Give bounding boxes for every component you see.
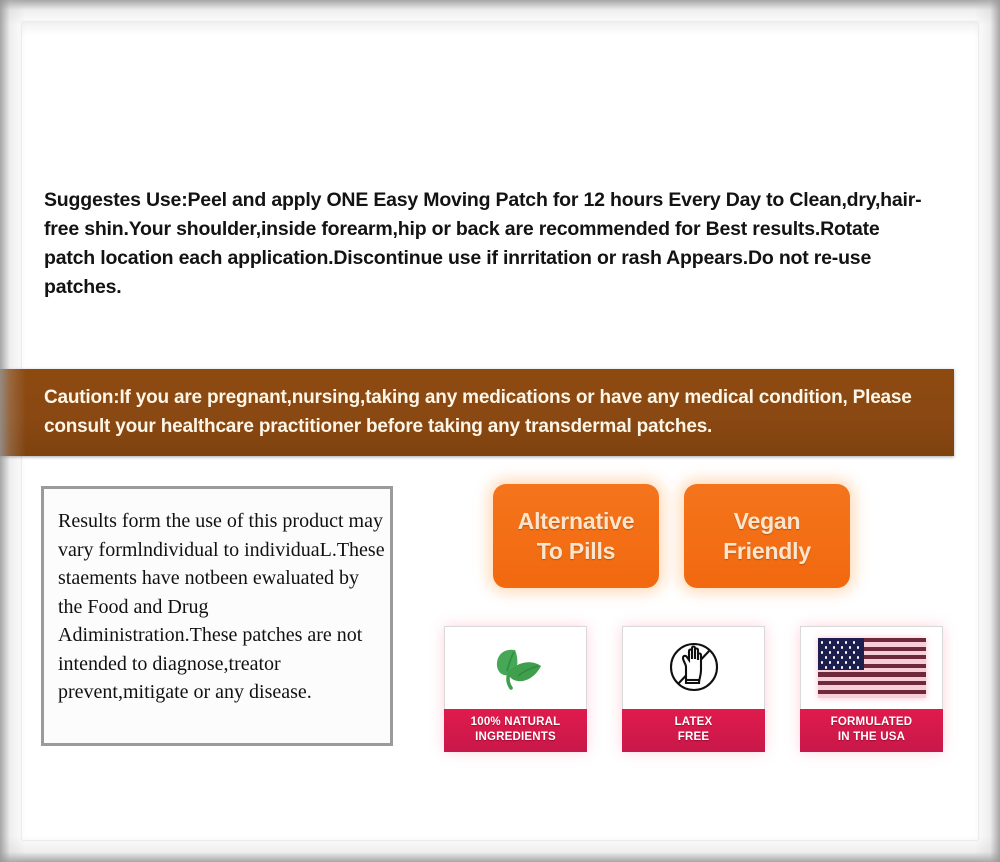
certification-label-line2: FREE bbox=[624, 730, 763, 745]
leaf-icon bbox=[485, 640, 547, 696]
disclaimer-box: Results form the use of this product may… bbox=[41, 486, 393, 746]
flag-canton bbox=[818, 638, 864, 670]
claim-badge-alternative-to-pills[interactable]: Alternative To Pills bbox=[493, 484, 659, 588]
certification-label: FORMULATED IN THE USA bbox=[800, 709, 943, 752]
certification-label: 100% NATURAL INGREDIENTS bbox=[444, 709, 587, 752]
usa-flag-icon bbox=[818, 638, 926, 698]
claim-badge-line2: To Pills bbox=[537, 536, 616, 566]
certification-label-line2: IN THE USA bbox=[802, 730, 941, 745]
certification-badge-natural-ingredients[interactable]: 100% NATURAL INGREDIENTS bbox=[444, 626, 587, 752]
claim-badge-line1: Alternative bbox=[518, 506, 635, 536]
certification-art bbox=[800, 626, 943, 709]
certification-badge-formulated-in-usa[interactable]: FORMULATED IN THE USA bbox=[800, 626, 943, 752]
certification-art bbox=[444, 626, 587, 709]
certification-badge-latex-free[interactable]: LATEX FREE bbox=[622, 626, 765, 752]
claim-badge-line1: Vegan bbox=[734, 506, 801, 536]
claim-badge-vegan-friendly[interactable]: Vegan Friendly bbox=[684, 484, 850, 588]
disclaimer-text: Results form the use of this product may… bbox=[58, 507, 388, 707]
no-latex-glove-icon bbox=[662, 637, 726, 699]
certification-label-line1: LATEX bbox=[624, 715, 763, 730]
caution-band: Caution:If you are pregnant,nursing,taki… bbox=[0, 369, 954, 456]
product-label-page: Suggestes Use:Peel and apply ONE Easy Mo… bbox=[0, 0, 1000, 862]
certification-label-line1: FORMULATED bbox=[802, 715, 941, 730]
certification-art bbox=[622, 626, 765, 709]
certification-label-line1: 100% NATURAL bbox=[446, 715, 585, 730]
certification-label-line2: INGREDIENTS bbox=[446, 730, 585, 745]
certification-badge-row: 100% NATURAL INGREDIENTS LATEX FREE bbox=[444, 626, 943, 752]
claim-badge-row: Alternative To Pills Vegan Friendly bbox=[493, 484, 850, 588]
suggested-use-text: Suggestes Use:Peel and apply ONE Easy Mo… bbox=[44, 186, 928, 302]
caution-text: Caution:If you are pregnant,nursing,taki… bbox=[44, 383, 934, 441]
claim-badge-line2: Friendly bbox=[723, 536, 811, 566]
certification-label: LATEX FREE bbox=[622, 709, 765, 752]
